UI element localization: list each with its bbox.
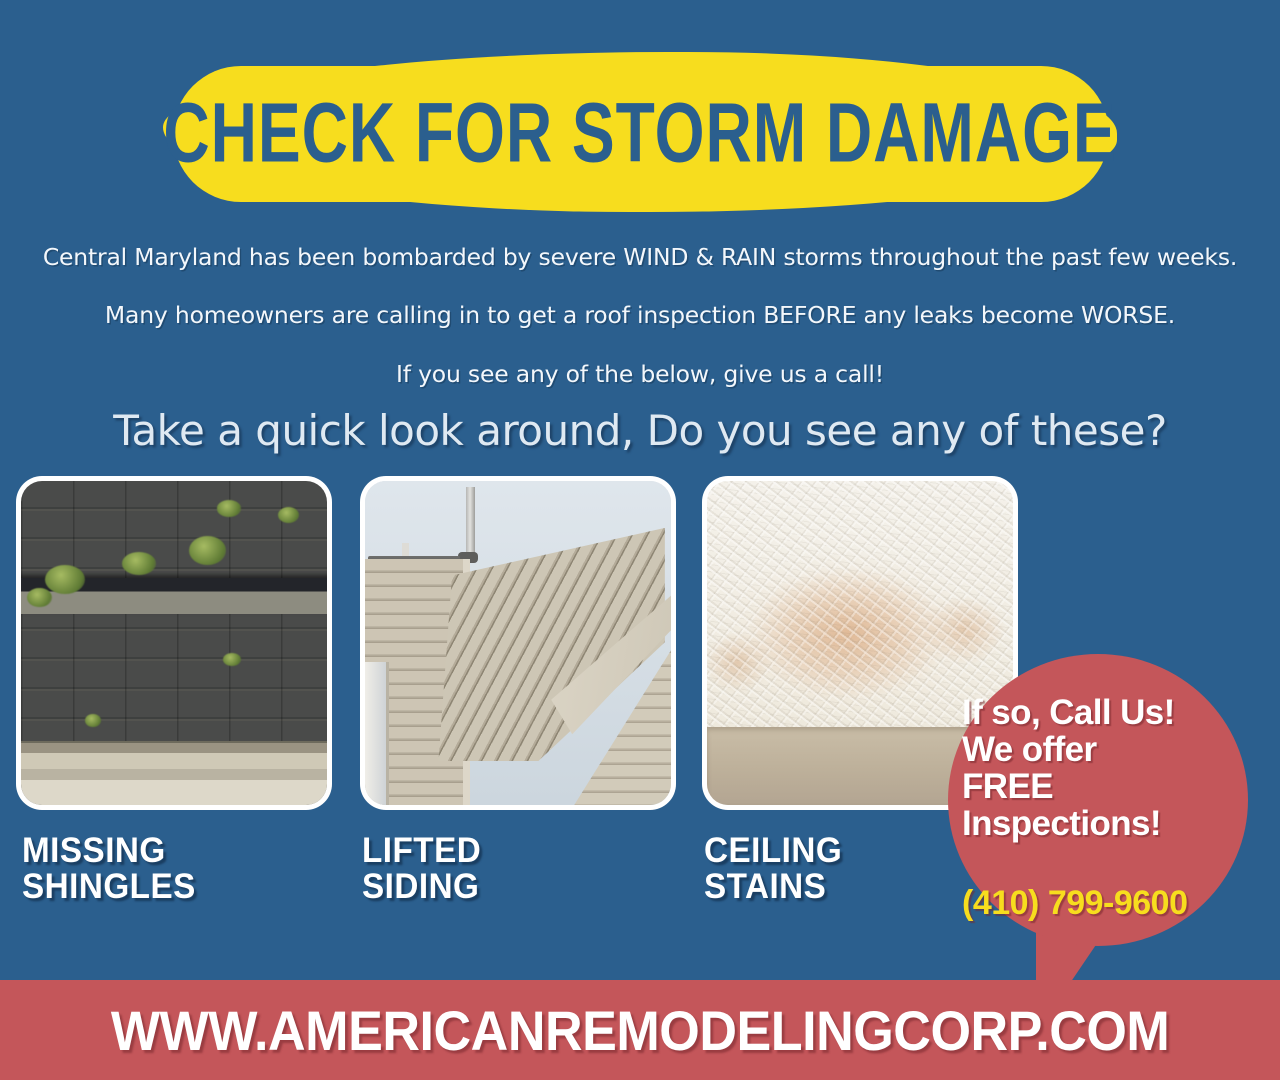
callout-line-3: FREE [962,768,1262,805]
caption-line-2: SIDING [362,869,481,905]
phone-number[interactable]: (410) 799-9600 [962,884,1262,923]
moss-patch [45,565,85,594]
caption-line-1: MISSING [22,833,196,869]
callout-text: If so, Call Us! We offer FREE Inspection… [962,694,1262,842]
caption-line-2: STAINS [704,869,842,905]
callout-line-2: We offer [962,731,1262,768]
intro-line-3: If you see any of the below, give us a c… [0,360,1280,388]
callout-line-1: If so, Call Us! [962,694,1262,731]
caption-ceiling-stains: CEILING STAINS [704,833,842,904]
moss-patch [278,507,299,523]
gutter [21,741,327,805]
card-lifted-siding [360,476,676,810]
caption-line-2: SHINGLES [22,869,196,905]
page-title: CHECK FOR STORM DAMAGE [196,34,1083,229]
storm-damage-flyer: CHECK FOR STORM DAMAGE Central Maryland … [0,0,1280,1080]
moss-patch [85,714,100,727]
moss-patch [189,536,226,565]
window-frame [365,662,389,805]
headline-question: Take a quick look around, Do you see any… [0,406,1280,455]
moss-patch [27,588,51,607]
caption-missing-shingles: MISSING SHINGLES [22,833,196,904]
card-missing-shingles [16,476,332,810]
callout-line-4: Inspections! [962,805,1262,842]
intro-line-2: Many homeowners are calling in to get a … [0,301,1280,329]
footer-bar: WWW.AMERICANREMODELINGCORP.COM [0,980,1280,1080]
lifted-siding-photo [365,481,671,805]
caption-lifted-siding: LIFTED SIDING [362,833,481,904]
title-banner: CHECK FOR STORM DAMAGE [163,52,1117,212]
vent-pipe [466,487,475,562]
website-url[interactable]: WWW.AMERICANREMODELINGCORP.COM [111,998,1169,1063]
caption-line-1: LIFTED [362,833,481,869]
moss-patch [223,653,241,666]
moss-patch [217,500,241,516]
moss-patch [122,552,156,575]
caption-line-1: CEILING [704,833,842,869]
missing-shingles-photo [21,481,327,805]
intro-line-1: Central Maryland has been bombarded by s… [0,243,1280,271]
